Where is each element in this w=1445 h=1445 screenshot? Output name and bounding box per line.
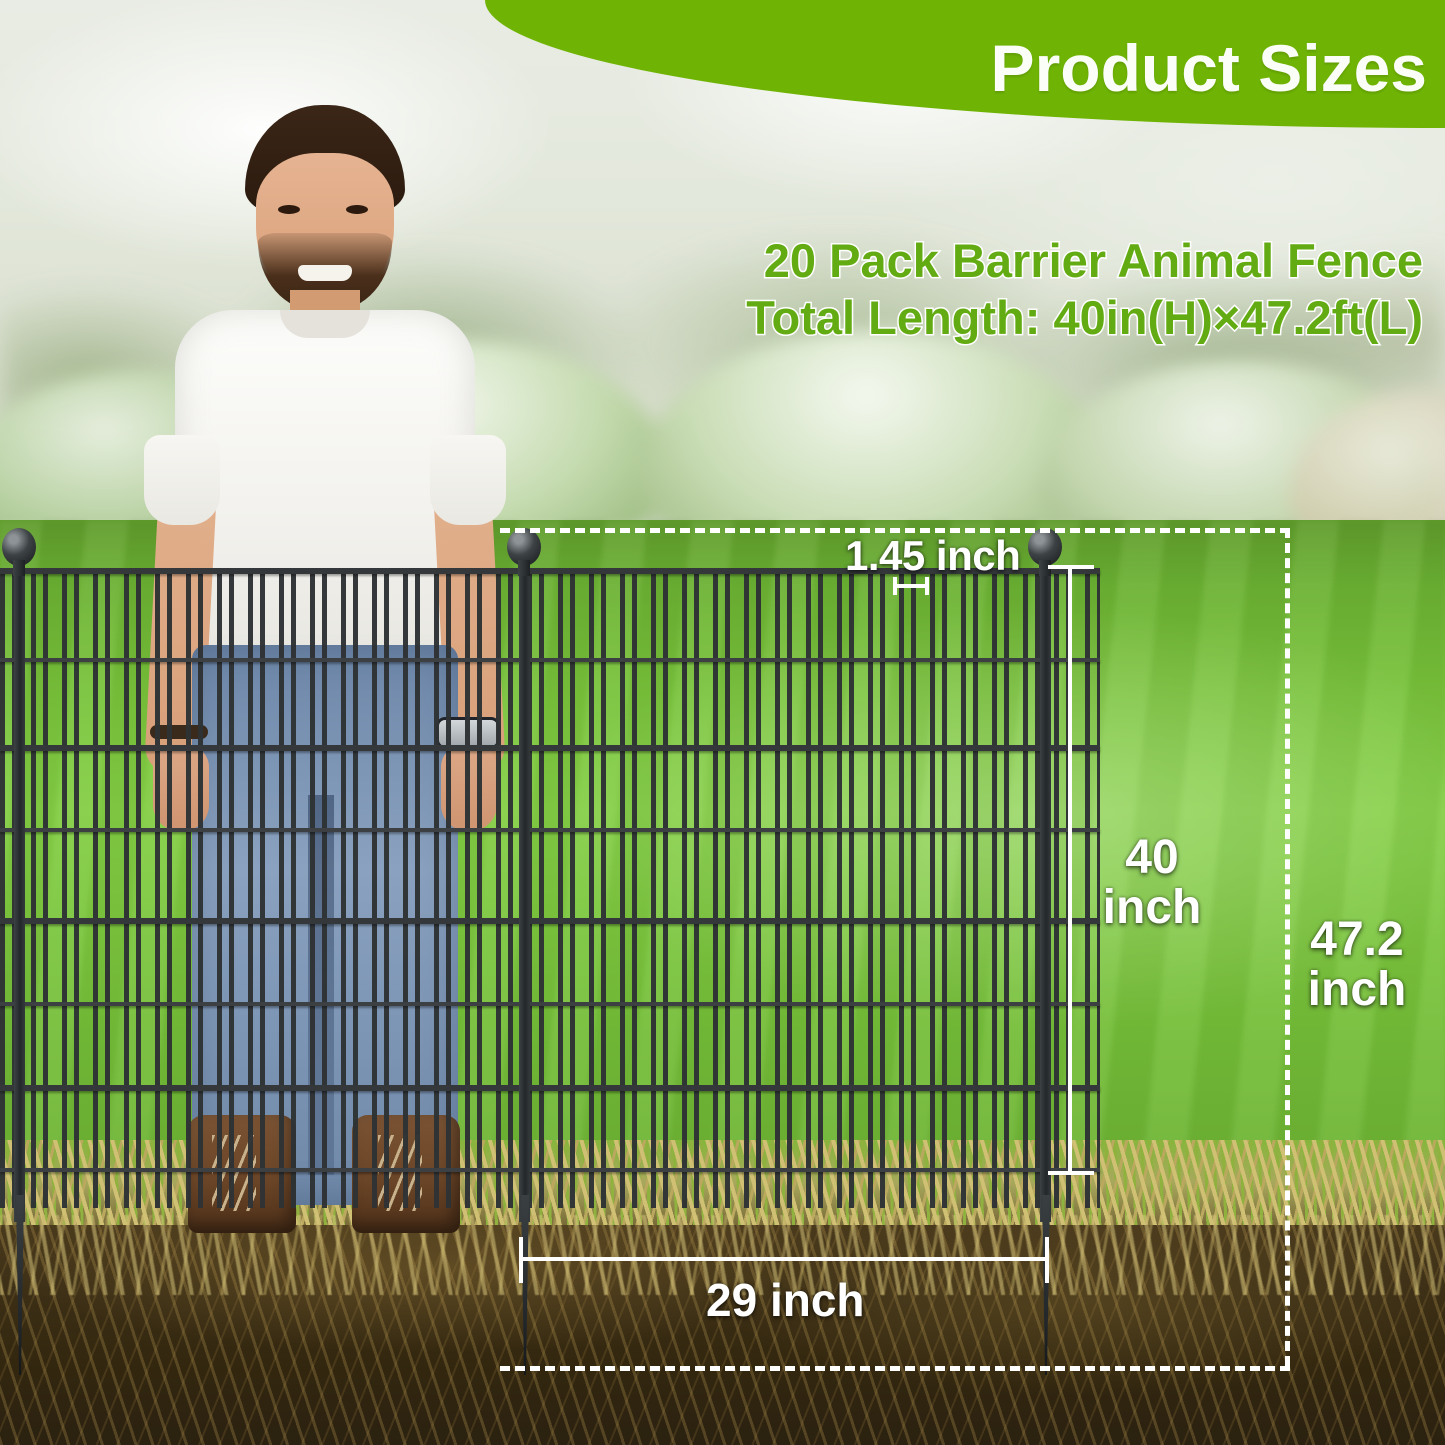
page-title: Product Sizes: [991, 30, 1427, 106]
subtitle-line-1: 20 Pack Barrier Animal Fence: [764, 234, 1423, 287]
panel-height-label: 40 inch: [1097, 833, 1207, 933]
fence-post: [1040, 562, 1051, 1222]
panel-height-unit: inch: [1103, 881, 1202, 934]
total-height-value: 47.2: [1310, 913, 1403, 966]
tick-cap-left: [893, 577, 897, 595]
fence-post: [519, 562, 530, 1222]
shirt-collar: [280, 310, 370, 338]
fence-vertical-bars: [0, 568, 1100, 1208]
post-ball-finial: [2, 528, 36, 566]
panel-height-cap-top: [1048, 565, 1094, 569]
product-subtitle: 20 Pack Barrier Animal Fence Total Lengt…: [563, 232, 1423, 347]
panel-height-line: [1068, 565, 1072, 1175]
bar-spacing-tick: [893, 584, 929, 588]
total-height-unit: inch: [1308, 963, 1407, 1016]
fence-rail: [0, 658, 1100, 662]
eye-right: [346, 205, 368, 214]
dimension-line-right-dashed: [1285, 528, 1290, 1366]
fence-rail: [0, 745, 1100, 751]
panel-width-line: [519, 1257, 1049, 1261]
panel-width-label: 29 inch: [706, 1277, 865, 1325]
fence-rail: [0, 828, 1100, 832]
tick-cap-right: [925, 577, 929, 595]
post-ball-finial: [507, 528, 541, 566]
bar-spacing-label: 1.45 inch: [845, 534, 1020, 578]
fence-rail: [0, 1002, 1100, 1006]
fence-rail-bottom: [0, 1168, 1100, 1172]
dimension-line-bottom-dashed: [500, 1366, 1290, 1371]
smile: [298, 265, 352, 281]
panel-width-cap-left: [519, 1237, 523, 1283]
product-size-infographic: 1.45 inch 40 inch 47.2 inch 29 inch Prod…: [0, 0, 1445, 1445]
subtitle-line-2: Total Length: 40in(H)×47.2ft(L): [563, 289, 1423, 346]
total-height-label: 47.2 inch: [1292, 915, 1422, 1015]
panel-width-cap-right: [1045, 1237, 1049, 1283]
panel-height-value: 40: [1125, 831, 1178, 884]
sleeve-right: [430, 435, 506, 525]
sleeve-left: [144, 435, 220, 525]
fence-rail: [0, 918, 1100, 924]
fence-post: [14, 562, 25, 1222]
eye-left: [278, 205, 300, 214]
post-ball-finial: [1028, 528, 1062, 566]
fence-rail: [0, 1085, 1100, 1091]
panel-height-cap-bottom: [1048, 1171, 1094, 1175]
fence-assembly: [0, 540, 1100, 1240]
